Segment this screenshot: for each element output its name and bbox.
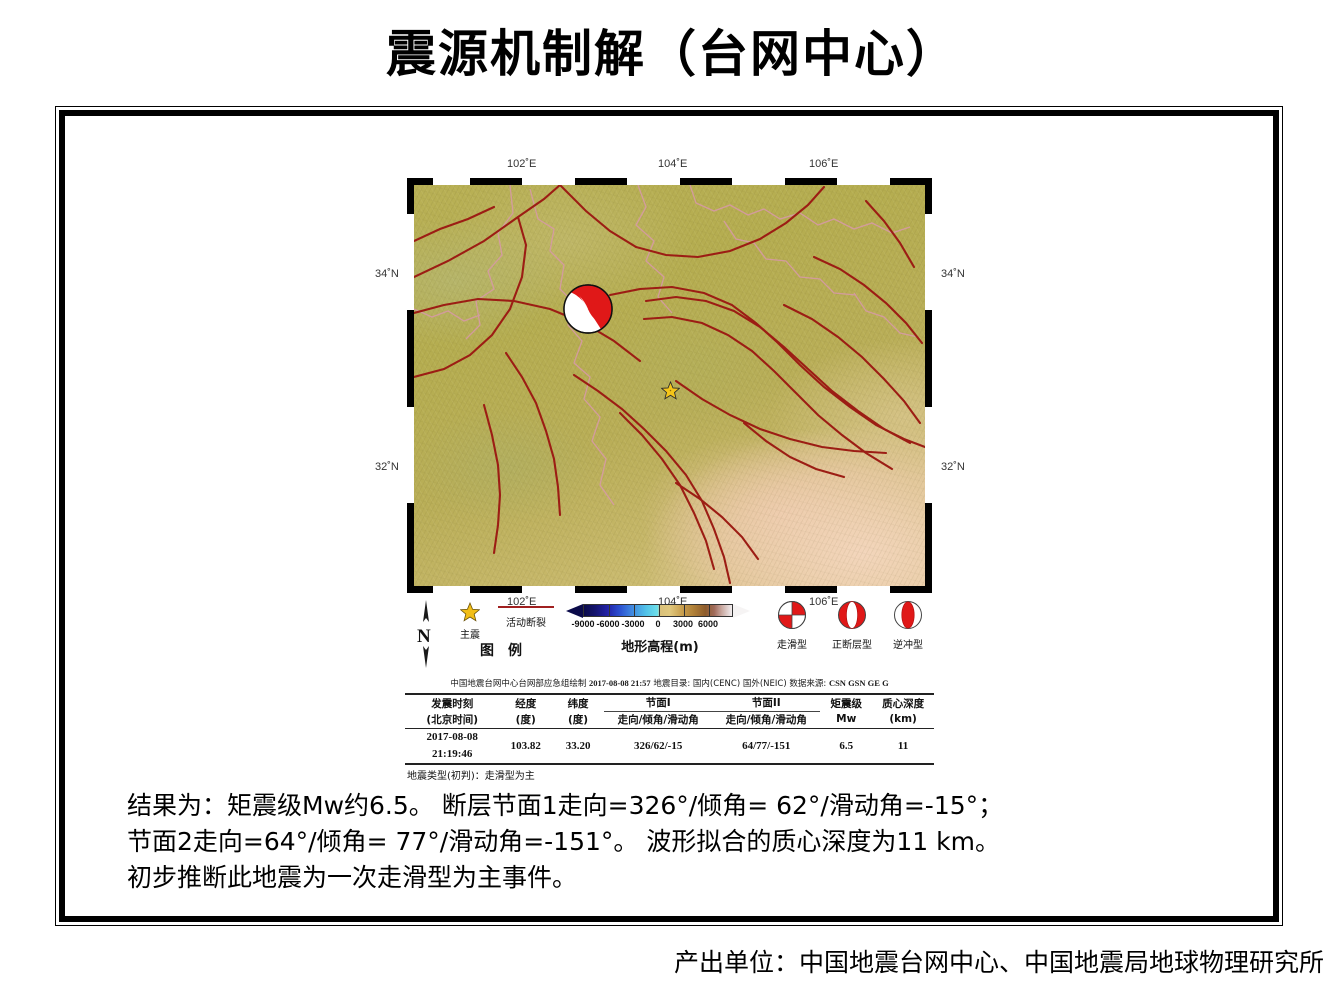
legend-mechanism-strike-slip: 走滑型	[763, 600, 821, 652]
th-np2-components: 走向/倾角/滑动角	[712, 711, 820, 728]
th-centroid-depth: 质心深度	[872, 694, 934, 711]
colorbar-tick-1: -6000	[596, 619, 619, 629]
table-note: 地震类型(初判)：走滑型为主	[405, 767, 934, 782]
th-depth-unit: (km)	[872, 711, 934, 728]
cell-np2: 64/77/-151	[712, 728, 820, 764]
cell-latitude: 33.20	[552, 728, 604, 764]
map-credit-line: 中国地震台网中心台网部应急组绘制 2017-08-08 21:57 地震目录: …	[407, 677, 932, 689]
map-lon-label-top-102: 102˚E	[507, 158, 536, 170]
colorbar-arrow-right-icon	[733, 604, 750, 618]
credit-pre: 中国地震台网中心台网部应急组绘制	[450, 679, 589, 689]
north-arrow-icon: N	[413, 598, 439, 670]
legend-mech-label-2: 逆冲型	[883, 640, 933, 652]
credit-source: CSN GSN GE G	[829, 678, 889, 688]
star-icon	[460, 602, 480, 622]
content-frame-inner: 102˚E 104˚E 106˚E 34˚N 32˚N 34˚N 32˚N	[59, 110, 1279, 922]
legend-mech-label-0: 走滑型	[763, 640, 821, 652]
province-boundaries	[414, 185, 918, 505]
map-legend: N 主震 活动断裂 图 例	[407, 596, 932, 674]
svg-text:N: N	[417, 626, 431, 647]
colorbar-tick-4: 3000	[673, 619, 693, 629]
th-longitude-unit: (度)	[499, 711, 552, 728]
legend-active-fault: 活动断裂	[495, 602, 557, 630]
th-origin-time: 发震时刻	[405, 694, 499, 711]
content-frame-outer: 102˚E 104˚E 106˚E 34˚N 32˚N 34˚N 32˚N	[55, 106, 1283, 926]
table-header-row-2: (北京时间) (度) (度) 走向/倾角/滑动角 走向/倾角/滑动角 Mw (k…	[405, 711, 934, 728]
map-lon-label-top-106: 106˚E	[809, 158, 838, 170]
cell-date: 2017-08-08	[405, 728, 499, 746]
legend-mech-label-1: 正断层型	[823, 640, 881, 652]
th-nodal-plane-1: 节面I	[604, 694, 712, 711]
cell-time: 21:19:46	[405, 746, 499, 764]
th-longitude: 经度	[499, 694, 552, 711]
colorbar-arrow-left-icon	[566, 604, 583, 618]
colorbar-tick-3: 0	[655, 619, 660, 629]
th-magnitude: 矩震级	[820, 694, 872, 711]
map-lat-label-left-34: 34˚N	[375, 268, 399, 280]
th-origin-time-unit: (北京时间)	[405, 711, 499, 728]
map-border-top	[407, 178, 932, 185]
legend-mainshock: 主震	[447, 602, 493, 642]
map-lat-label-right-32: 32˚N	[941, 461, 965, 473]
map-canvas[interactable]	[414, 185, 925, 586]
result-paragraph: 结果为：矩震级Mw约6.5。 断层节面1走向=326°/倾角= 62°/滑动角=…	[127, 788, 1237, 896]
colorbar-tick-5: 6000	[698, 619, 718, 629]
legend-mechanism-thrust: 逆冲型	[883, 600, 933, 652]
colorbar-tick-2: -3000	[621, 619, 644, 629]
relief-map[interactable]	[407, 178, 932, 593]
map-lat-label-left-32: 32˚N	[375, 461, 399, 473]
th-nodal-plane-2: 节面II	[712, 694, 820, 711]
th-magnitude-unit: Mw	[820, 711, 872, 728]
fault-line-icon	[498, 602, 554, 612]
cell-mw: 6.5	[820, 728, 872, 764]
beachball-normal-icon	[837, 600, 867, 630]
page-title: 震源机制解（台网中心）	[0, 14, 1344, 86]
map-lat-label-right-34: 34˚N	[941, 268, 965, 280]
table-row: 2017-08-08 103.82 33.20 326/62/-15 64/77…	[405, 728, 934, 746]
cell-longitude: 103.82	[499, 728, 552, 764]
colorbar-tick-0: -9000	[571, 619, 594, 629]
map-border-bottom	[407, 586, 932, 593]
legend-title: 图 例	[453, 640, 549, 660]
th-np1-components: 走向/倾角/滑动角	[604, 711, 712, 728]
credit-mid: 地震目录: 国内(CENC) 国外(NEIC) 数据来源:	[651, 679, 829, 689]
credit-time: 2017-08-08 21:57	[589, 678, 651, 688]
result-line-2: 节面2走向=64°/倾角= 77°/滑动角=-151°。 波形拟合的质心深度为1…	[127, 824, 1237, 860]
mainshock-star-icon	[661, 381, 680, 400]
colorbar-ticks: -9000 -6000 -3000 0 3000 6000	[565, 619, 755, 632]
table-header-row-1: 发震时刻 经度 纬度 节面I 节面II 矩震级 质心深度	[405, 694, 934, 711]
legend-mechanism-normal: 正断层型	[823, 600, 881, 652]
th-latitude: 纬度	[552, 694, 604, 711]
th-latitude-unit: (度)	[552, 711, 604, 728]
beachball-mainshock-icon	[562, 283, 614, 335]
elevation-colorbar: -9000 -6000 -3000 0 3000 6000 地形高程(m)	[565, 604, 755, 655]
seismic-figure: 102˚E 104˚E 106˚E 34˚N 32˚N 34˚N 32˚N	[395, 144, 947, 804]
legend-fault-label: 活动断裂	[495, 618, 557, 630]
colorbar-title: 地形高程(m)	[565, 636, 755, 655]
focal-mechanism-table: 发震时刻 经度 纬度 节面I 节面II 矩震级 质心深度 (北京时间) (度) …	[405, 693, 934, 782]
result-line-1: 结果为：矩震级Mw约6.5。 断层节面1走向=326°/倾角= 62°/滑动角=…	[127, 788, 1237, 824]
colorbar-gradient	[583, 604, 733, 617]
beachball-thrust-icon	[893, 600, 923, 630]
result-line-3: 初步推断此地震为一次走滑型为主事件。	[127, 860, 1237, 896]
beachball-strike-slip-icon	[777, 600, 807, 630]
map-lon-label-top-104: 104˚E	[658, 158, 687, 170]
footer-producer: 产出单位：中国地震台网中心、中国地震局地球物理研究所	[0, 943, 1344, 979]
cell-depth: 11	[872, 728, 934, 764]
map-border-left	[407, 178, 414, 593]
map-border-right	[925, 178, 932, 593]
cell-np1: 326/62/-15	[604, 728, 712, 764]
